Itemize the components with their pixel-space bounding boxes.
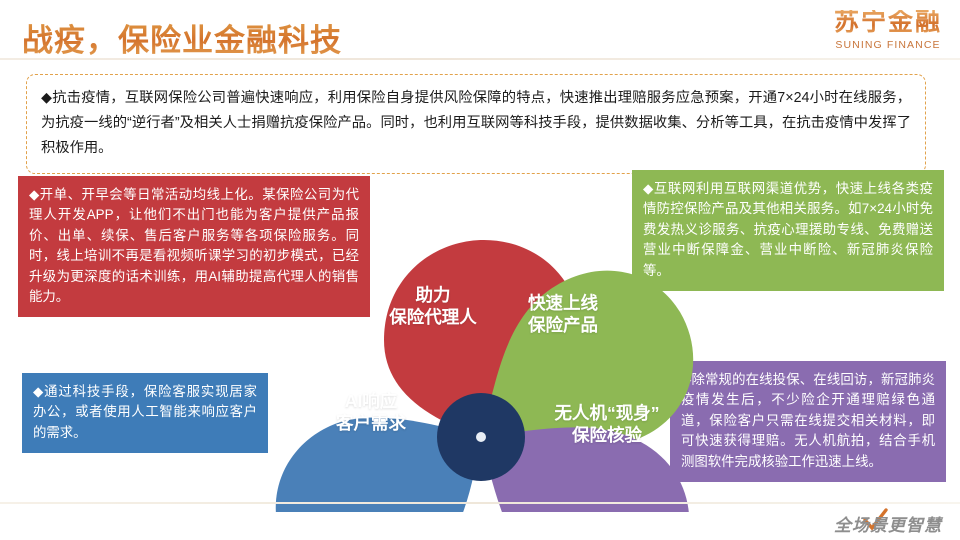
page-title: 战疫，保险业金融科技 — [22, 15, 342, 60]
intro-text: ◆抗击疫情，互联网保险公司普遍快速响应，利用保险自身提供风险保障的特点，快速推出… — [41, 86, 911, 161]
footer-watermark: 全场景更智慧 — [834, 511, 942, 536]
petal-ai-line2: 客户需求 — [296, 412, 446, 434]
note-claims-text: ◆除常规的在线投保、在线回访，新冠肺炎疫情发生后，不少险企开通理赔绿色通道，保险… — [681, 372, 935, 469]
petal-drone-line2: 保险核验 — [524, 424, 690, 446]
petal-ai-line1: AI响应 — [296, 390, 446, 412]
petal-diagram-shapes — [266, 222, 696, 512]
intro-callout: ◆抗击疫情，互联网保险公司普遍快速响应，利用保险自身提供风险保障的特点，快速推出… — [26, 74, 926, 174]
footer-divider — [0, 502, 960, 504]
petal-agents-line2: 保险代理人 — [358, 306, 508, 328]
petal-drone-label: 无人机“现身” 保险核验 — [524, 402, 690, 447]
petal-agents-line1: 助力 — [358, 284, 508, 306]
petal-products-line1: 快速上线 — [488, 292, 638, 314]
note-customer-service-text: ◆通过科技手段，保险客服实现居家办公，或者使用人工智能来响应客户的需求。 — [33, 384, 257, 440]
brand-name-cn: 苏宁金融 — [834, 10, 942, 35]
petal-diagram: 助力 保险代理人 快速上线 保险产品 AI响应 客户需求 无人机“现身” 保险核… — [266, 222, 696, 512]
slide-canvas: 战疫，保险业金融科技 苏宁金融 SUNING FINANCE ◆抗击疫情，互联网… — [0, 0, 960, 540]
suning-finance-logo: 苏宁金融 SUNING FINANCE — [834, 10, 942, 51]
diagram-center-dot — [476, 432, 486, 442]
petal-agents-label: 助力 保险代理人 — [358, 284, 508, 329]
petal-drone-line1: 无人机“现身” — [524, 402, 690, 424]
header-divider — [0, 58, 960, 60]
note-claims: ◆除常规的在线投保、在线回访，新冠肺炎疫情发生后，不少险企开通理赔绿色通道，保险… — [670, 361, 946, 482]
petal-products-label: 快速上线 保险产品 — [488, 292, 638, 337]
brand-name-en: SUNING FINANCE — [834, 40, 942, 51]
note-customer-service: ◆通过科技手段，保险客服实现居家办公，或者使用人工智能来响应客户的需求。 — [22, 373, 268, 453]
petal-ai-label: AI响应 客户需求 — [296, 390, 446, 435]
petal-products-line2: 保险产品 — [488, 314, 638, 336]
